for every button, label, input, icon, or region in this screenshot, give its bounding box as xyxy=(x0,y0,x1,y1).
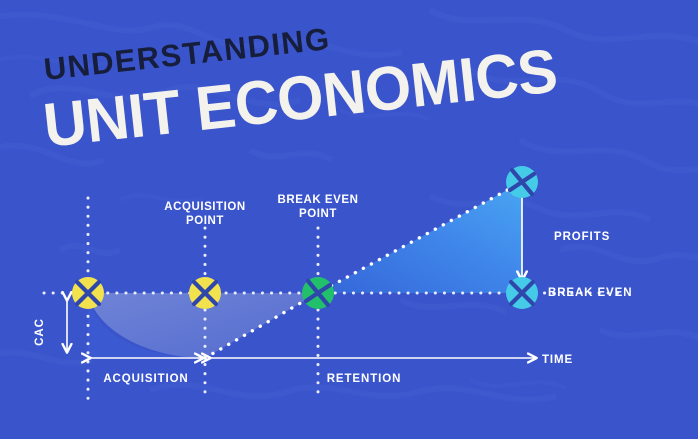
marker-break-even-point xyxy=(302,277,334,309)
time-axis-label: TIME xyxy=(542,354,573,366)
acquisition-point-label: ACQUISITION POINT xyxy=(164,200,245,228)
infographic-canvas: UNDERSTANDING UNIT ECONOMICS ACQUISITION… xyxy=(0,0,698,439)
break-even-point-label: BREAK EVEN POINT xyxy=(278,193,359,221)
acquisition-phase-label: ACQUISITION xyxy=(103,373,188,385)
marker-break-even xyxy=(506,277,538,309)
retention-phase-label: RETENTION xyxy=(327,373,402,385)
marker-acquisition-point xyxy=(189,277,221,309)
profits-label: PROFITS xyxy=(554,231,610,243)
marker-profit-peak xyxy=(506,166,538,198)
break-even-label: BREAK EVEN xyxy=(548,287,632,299)
marker-cac-start xyxy=(72,277,104,309)
cac-label: CAC xyxy=(34,318,46,346)
